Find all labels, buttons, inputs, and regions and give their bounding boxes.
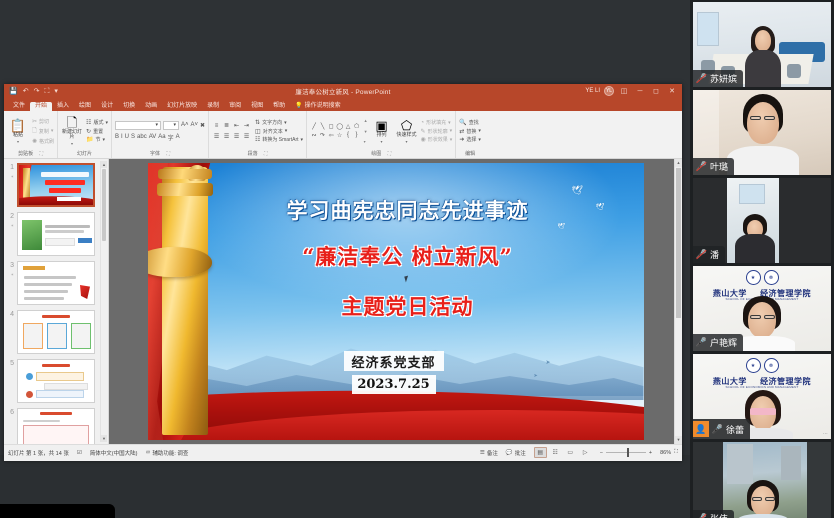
editing-group-label: 编辑 bbox=[459, 150, 481, 158]
thumbnail-number-label: 1 bbox=[10, 164, 14, 171]
zoom-slider[interactable] bbox=[606, 452, 646, 453]
thumbnail-item[interactable]: 1 ✶ bbox=[4, 163, 108, 207]
arrange-label: 排列 bbox=[377, 133, 387, 138]
more-shapes-icon[interactable]: ▾ bbox=[364, 139, 368, 144]
view-buttons: ▤ ☷ ▭ ▷ bbox=[534, 447, 592, 458]
align-text-button[interactable]: ◫ 对齐文本 ▾ bbox=[255, 128, 303, 135]
align-right-icon[interactable]: ☰ bbox=[232, 133, 241, 141]
university-name-english: SCHOOL OF ECONOMICS AND MANAGEMENT bbox=[693, 385, 831, 389]
new-slide-button[interactable]: 🗋 新建幻灯片 ▾ bbox=[61, 116, 83, 146]
title-bar-right: YE LI YL ◫ ─ ◻ ✕ bbox=[585, 86, 682, 96]
find-label: 查找 bbox=[469, 119, 479, 126]
minimize-icon[interactable]: ─ bbox=[634, 88, 646, 95]
zoom-slider-handle[interactable] bbox=[627, 448, 629, 457]
text-direction-label: 文字方向 bbox=[262, 119, 282, 126]
select-cursor-icon: ➜ bbox=[459, 136, 464, 143]
microphone-muted-icon: 🎤 bbox=[696, 161, 707, 172]
university-seal-icon: ★ bbox=[746, 358, 761, 373]
avatar[interactable]: YL bbox=[604, 86, 614, 96]
font-group-title: 字体 bbox=[150, 151, 160, 157]
clear-all-formatting-button[interactable]: 字 bbox=[168, 133, 174, 142]
scroll-down-icon[interactable]: ▼ bbox=[675, 436, 682, 444]
chevron-down-icon: ▾ bbox=[478, 128, 481, 134]
text-direction-button[interactable]: ⇅ 文字方向 ▾ bbox=[255, 119, 303, 126]
slide-organization[interactable]: 经济系党支部 bbox=[344, 351, 444, 371]
slide-golden-pillar bbox=[162, 167, 208, 435]
ribbon-tabs: 文件 开始 插入 绘图 设计 切换 动画 幻灯片放映 录制 审阅 视图 帮助 💡… bbox=[4, 98, 682, 111]
cut-label: 剪切 bbox=[39, 118, 49, 125]
curve-shape-icon[interactable]: ∾ bbox=[310, 131, 318, 139]
participant-name-bar: 👤 🎤 徐蕾 bbox=[693, 419, 750, 439]
select-button[interactable]: ➜ 选择 ▾ bbox=[459, 136, 481, 143]
thumbnail-number-label: 4 bbox=[10, 311, 14, 318]
host-badge-icon: 👤 bbox=[693, 421, 709, 437]
tab-insert[interactable]: 插入 bbox=[52, 102, 74, 112]
scroll-thumb[interactable] bbox=[102, 169, 106, 241]
ribbon-group-editing: 🔍 查找 ⇄ 替换 ▾ ➜ 选择 ▾ bbox=[456, 111, 484, 158]
slides-group-title: 幻灯片 bbox=[77, 151, 92, 157]
chevron-down-icon: ▾ bbox=[448, 120, 451, 126]
chevron-down-icon: ▾ bbox=[17, 139, 19, 144]
drawing-group-title: 绘图 bbox=[371, 151, 381, 157]
accessibility-status[interactable]: ♾ 辅助功能: 调查 bbox=[145, 449, 188, 457]
text-direction-icon: ⇅ bbox=[255, 119, 260, 126]
participant-name: 徐蕾 bbox=[726, 423, 744, 436]
justify-icon[interactable]: ☰ bbox=[242, 133, 251, 141]
thumbnail-item[interactable]: 2 ✶ bbox=[4, 212, 108, 256]
arrow-shape-icon[interactable]: ╲ bbox=[319, 123, 327, 131]
thumbnail-2[interactable] bbox=[17, 212, 95, 256]
slide-date[interactable]: 2023.7.25 bbox=[352, 375, 436, 394]
scroll-up-icon[interactable]: ▲ bbox=[101, 161, 107, 168]
participant-name: 户艳辉 bbox=[710, 336, 737, 349]
thumbnail-4[interactable] bbox=[17, 310, 95, 354]
tab-record[interactable]: 录制 bbox=[202, 102, 224, 112]
shape-fill-button[interactable]: ◔ 形状填充 ▾ bbox=[421, 119, 453, 126]
chevron-down-icon: ▾ bbox=[71, 141, 73, 146]
effects-icon: ◉ bbox=[421, 136, 426, 143]
tab-transitions[interactable]: 切换 bbox=[118, 102, 140, 112]
shape-effects-button[interactable]: ◉ 形状效果 ▾ bbox=[421, 136, 453, 143]
shapes-gallery-scroll[interactable]: ▲ ▼ ▾ bbox=[364, 118, 368, 144]
thumbnail-6[interactable] bbox=[17, 408, 95, 444]
tab-design[interactable]: 设计 bbox=[96, 102, 118, 112]
animation-star-icon: ✶ bbox=[6, 172, 14, 181]
university-logo: ★ ☸ bbox=[693, 358, 831, 373]
lightbulb-icon: 💡 bbox=[295, 103, 302, 109]
layout-button[interactable]: ☷ 版式 ▾ bbox=[86, 119, 108, 126]
search-icon: 🔍 bbox=[459, 119, 466, 126]
paragraph-group-title: 段落 bbox=[248, 151, 258, 157]
tab-slideshow[interactable]: 幻灯片放映 bbox=[162, 102, 202, 112]
title-bar: 💾 ↶ ↷ ⛶ ▾ 廉洁奉公树立新风 - PowerPoint YE LI YL… bbox=[4, 84, 682, 98]
slides-group-label: 幻灯片 bbox=[61, 150, 108, 158]
chevron-down-icon: ▾ bbox=[478, 137, 481, 143]
start-presentation-icon[interactable]: ⛶ bbox=[44, 88, 49, 95]
reset-label: 重置 bbox=[93, 128, 103, 135]
thumbnail-5[interactable] bbox=[17, 359, 95, 403]
thumbnail-item[interactable]: 3 ✶ bbox=[4, 261, 108, 305]
chevron-up-icon[interactable]: ▲ bbox=[364, 118, 368, 123]
animation-star-icon: ✶ bbox=[6, 221, 14, 230]
reset-button[interactable]: ↻ 重置 bbox=[86, 128, 108, 135]
microphone-muted-icon: 🎤 bbox=[696, 513, 707, 518]
zoom-out-button[interactable]: − bbox=[600, 450, 603, 456]
thumbnail-item[interactable]: 4 bbox=[4, 310, 108, 354]
copy-icon: 🗋 bbox=[32, 126, 37, 136]
replace-button[interactable]: ⇄ 替换 ▾ bbox=[459, 128, 481, 135]
restore-icon[interactable]: ◻ bbox=[650, 87, 662, 95]
zoom-control[interactable]: − + 86% ⛶ bbox=[600, 449, 678, 456]
layout-label: 版式 bbox=[93, 119, 103, 126]
ribbon-group-slides: 🗋 新建幻灯片 ▾ ☷ 版式 ▾ ↻ 重置 bbox=[58, 111, 112, 158]
chevron-down-icon: ▾ bbox=[406, 139, 408, 144]
university-seal-icon: ★ bbox=[746, 270, 761, 285]
brace-right-icon[interactable]: } bbox=[353, 131, 361, 139]
redo-icon[interactable]: ↷ bbox=[34, 88, 40, 95]
thumbnail-1[interactable] bbox=[17, 163, 95, 207]
clipboard-group-title: 剪贴板 bbox=[18, 151, 33, 157]
quick-styles-icon: ⬠ bbox=[401, 119, 412, 132]
copy-button[interactable]: 🗋 复制 ▾ bbox=[32, 126, 54, 136]
slide-editing-pane[interactable]: 🕊 🕊 🕊 ➤ ➤ 学习曲宪忠同志先进事迹 “廉洁奉公 树立新风” 主题党日活动… bbox=[109, 159, 682, 444]
participant-name: 叶璐 bbox=[710, 160, 728, 173]
language-label[interactable]: 简体中文(中国大陆) bbox=[90, 449, 138, 457]
dialog-launcher-icon[interactable]: ⛶ bbox=[39, 151, 43, 157]
arrange-button[interactable]: ▣ 排列 ▾ bbox=[371, 119, 393, 144]
increase-indent-icon[interactable]: ⇥ bbox=[242, 122, 251, 130]
grow-font-button[interactable]: A˄ bbox=[181, 122, 189, 128]
slide-subtitle[interactable]: “廉洁奉公 树立新风” bbox=[243, 241, 573, 271]
smartart-icon: ☷ bbox=[255, 136, 260, 143]
align-left-icon[interactable]: ☰ bbox=[212, 133, 221, 141]
chevron-down-icon: ▾ bbox=[155, 122, 158, 128]
clipboard-icon: 📋 bbox=[10, 119, 26, 132]
select-label: 选择 bbox=[466, 136, 476, 143]
chevron-down-icon: ▾ bbox=[450, 128, 453, 134]
section-button[interactable]: 📁 节 ▾ bbox=[86, 136, 108, 143]
participant-tile[interactable]: ★ ☸ 燕山大学 经济管理学院 SCHOOL OF ECONOMICS AND … bbox=[693, 266, 831, 351]
replace-icon: ⇄ bbox=[459, 128, 464, 135]
participant-tile-active-speaker[interactable]: ★ ☸ 燕山大学 经济管理学院 SCHOOL OF ECONOMICS AND … bbox=[693, 354, 831, 439]
screen-root: 💾 ↶ ↷ ⛶ ▾ 廉洁奉公树立新风 - PowerPoint YE LI YL… bbox=[0, 0, 834, 518]
comments-label: 批注 bbox=[515, 449, 526, 457]
underline-button[interactable]: U bbox=[125, 134, 129, 140]
new-slide-icon: 🗋 bbox=[67, 116, 77, 129]
convert-smartart-button[interactable]: ☷ 转换为 SmartArt ▾ bbox=[255, 136, 303, 143]
meeting-taskbar-strip bbox=[0, 504, 115, 518]
participant-name-bar: 🎤 叶璐 bbox=[693, 158, 734, 175]
dove-icon: 🕊 bbox=[596, 203, 605, 211]
character-spacing-button[interactable]: AV bbox=[149, 134, 157, 140]
fit-slide-to-window-button[interactable]: ⛶ bbox=[674, 449, 678, 456]
dove-icon: 🕊 bbox=[572, 185, 583, 196]
align-center-icon[interactable]: ☰ bbox=[222, 133, 231, 141]
ribbon-group-clipboard: 📋 粘贴 ▾ ✂ 剪切 🗋 复制 ▾ bbox=[4, 111, 58, 158]
pentagon-shape-icon[interactable]: ⬠ bbox=[353, 123, 361, 131]
align-text-label: 对齐文本 bbox=[263, 128, 283, 135]
pillar-ornament bbox=[188, 165, 206, 181]
microphone-muted-icon: 🎤 bbox=[696, 249, 707, 260]
thumbnail-item[interactable]: 5 bbox=[4, 359, 108, 403]
bullets-icon[interactable]: ≡ bbox=[212, 122, 221, 130]
thumbnail-number: 6 bbox=[6, 408, 17, 417]
chevron-down-icon: ▾ bbox=[285, 128, 288, 134]
format-painter-label: 格式刷 bbox=[39, 138, 54, 145]
microphone-icon: 🎤 bbox=[712, 424, 723, 435]
participant-name: 苏妍嫔 bbox=[710, 72, 737, 85]
bird-icon: ➤ bbox=[534, 373, 538, 379]
thumbnail-number: 3 ✶ bbox=[6, 261, 17, 279]
connector-shape-icon[interactable]: ↷ bbox=[319, 131, 327, 139]
scroll-up-icon[interactable]: ▲ bbox=[675, 159, 682, 167]
window-title: 廉洁奉公树立新风 - PowerPoint bbox=[4, 86, 682, 96]
video-corner-dots: ⋯ bbox=[823, 431, 829, 437]
university-logo: ★ ☸ bbox=[693, 270, 831, 285]
replace-label: 替换 bbox=[466, 128, 476, 135]
notes-button[interactable]: ☰ 备注 bbox=[480, 449, 498, 457]
chevron-down-icon: ▾ bbox=[284, 120, 287, 126]
format-painter-button[interactable]: ✺ 格式刷 bbox=[32, 138, 54, 145]
dialog-launcher-icon[interactable]: ⛶ bbox=[166, 151, 170, 157]
save-icon[interactable]: 💾 bbox=[9, 88, 18, 95]
notes-label: 备注 bbox=[487, 449, 498, 457]
slide-subtitle-2[interactable]: 主题党日活动 bbox=[243, 291, 573, 321]
drawing-group-label: 绘图 ⛶ bbox=[310, 150, 452, 158]
ribbon-group-drawing: ╱ ╲ ◻ ◯ △ ⬠ ∾ ↷ ⇦ ☆ { } ▲ bbox=[307, 111, 456, 158]
thumbnail-number: 5 bbox=[6, 359, 17, 368]
participant-video bbox=[693, 442, 831, 518]
tell-me-label: 操作说明搜索 bbox=[305, 103, 341, 109]
college-seal-icon: ☸ bbox=[764, 358, 779, 373]
tab-view[interactable]: 视图 bbox=[246, 102, 268, 112]
customize-qat-icon[interactable]: ▾ bbox=[54, 88, 58, 95]
normal-view-button[interactable]: ▤ bbox=[534, 447, 547, 458]
shape-outline-label: 形状轮廓 bbox=[428, 128, 448, 135]
shrink-font-button[interactable]: A˅ bbox=[190, 122, 198, 128]
status-bar: 幻灯片 第 1 张，共 14 张 ☑ 简体中文(中国大陆) ♾ 辅助功能: 调查… bbox=[4, 444, 682, 460]
participant-name-bar: 🎤 张伟 bbox=[693, 510, 734, 518]
bold-button[interactable]: B bbox=[115, 134, 119, 140]
clear-formatting-icon[interactable]: ✖ bbox=[200, 122, 205, 129]
triangle-shape-icon[interactable]: △ bbox=[344, 123, 352, 131]
powerpoint-window: 💾 ↶ ↷ ⛶ ▾ 廉洁奉公树立新风 - PowerPoint YE LI YL… bbox=[4, 84, 682, 461]
pillar-cloud-band bbox=[148, 247, 212, 277]
ribbon-group-paragraph: ≡ ≣ ⇤ ⇥ ☰ ☰ ☰ ☰ bbox=[209, 111, 307, 158]
participant-name: 潘 bbox=[710, 248, 719, 261]
tell-me-search[interactable]: 💡 操作说明搜索 bbox=[290, 102, 346, 112]
thumbnail-3[interactable] bbox=[17, 261, 95, 305]
thumbnail-number: 2 ✶ bbox=[6, 212, 17, 230]
convert-smartart-label: 转换为 SmartArt bbox=[262, 136, 298, 143]
zoom-percent-label[interactable]: 86% bbox=[655, 450, 671, 456]
tab-draw[interactable]: 绘图 bbox=[74, 102, 96, 112]
college-seal-icon: ☸ bbox=[764, 270, 779, 285]
rectangle-shape-icon[interactable]: ◻ bbox=[327, 123, 335, 131]
paragraph-group-label: 段落 ⛶ bbox=[212, 150, 303, 158]
dialog-launcher-icon[interactable]: ⛶ bbox=[388, 151, 392, 157]
scissors-icon: ✂ bbox=[32, 118, 37, 125]
tab-review[interactable]: 审阅 bbox=[224, 102, 246, 112]
reading-view-button[interactable]: ▭ bbox=[564, 447, 577, 458]
shape-outline-button[interactable]: ✎ 形状轮廓 ▾ bbox=[421, 128, 453, 135]
editing-group-title: 编辑 bbox=[465, 151, 475, 157]
decrease-indent-icon[interactable]: ⇤ bbox=[232, 122, 241, 130]
participant-name: 张伟 bbox=[710, 512, 728, 518]
brace-left-icon[interactable]: { bbox=[344, 131, 352, 139]
thumbnail-number: 1 ✶ bbox=[6, 163, 17, 181]
find-button[interactable]: 🔍 查找 bbox=[459, 119, 481, 126]
numbering-icon[interactable]: ≣ bbox=[222, 122, 231, 130]
copy-label: 复制 bbox=[39, 128, 49, 135]
microphone-muted-icon: 🎤 bbox=[696, 73, 707, 84]
section-label: 节 bbox=[96, 136, 101, 143]
thumbnail-scrollbar[interactable]: ▲ ▼ bbox=[100, 161, 107, 442]
chevron-down-icon: ▾ bbox=[51, 128, 54, 134]
quick-styles-button[interactable]: ⬠ 快速样式 ▾ bbox=[396, 119, 418, 144]
participant-name-bar: 🎤 苏妍嫔 bbox=[693, 70, 743, 87]
thumbnail-number-label: 5 bbox=[10, 360, 14, 367]
chevron-down-icon: ▾ bbox=[381, 139, 383, 144]
clipboard-group-label: 剪贴板 ⛶ bbox=[7, 150, 54, 158]
thumbnail-item[interactable]: 6 bbox=[4, 408, 108, 444]
ribbon: 📋 粘贴 ▾ ✂ 剪切 🗋 复制 ▾ bbox=[4, 111, 682, 159]
font-name-combo[interactable]: ▾ bbox=[115, 121, 161, 130]
chevron-down-icon[interactable]: ▼ bbox=[364, 129, 368, 134]
layout-icon: ☷ bbox=[86, 119, 91, 126]
comments-button[interactable]: 💬 批注 bbox=[506, 449, 526, 457]
comment-bubble-icon: 💬 bbox=[506, 450, 513, 456]
dialog-launcher-icon[interactable]: ⛶ bbox=[264, 151, 268, 157]
participant-tile[interactable]: 🎤 苏妍嫔 bbox=[693, 2, 831, 87]
shape-effects-label: 形状效果 bbox=[428, 136, 448, 143]
slide-thumbnail-pane[interactable]: 1 ✶ 2 ✶ bbox=[4, 159, 109, 444]
close-icon[interactable]: ✕ bbox=[666, 87, 678, 95]
slide-scrollbar[interactable]: ▲ ▼ bbox=[674, 159, 682, 444]
cut-button[interactable]: ✂ 剪切 bbox=[32, 118, 54, 125]
chevron-down-icon: ▾ bbox=[301, 137, 304, 143]
slide-sorter-view-button[interactable]: ☷ bbox=[549, 447, 562, 458]
paintbrush-icon: ✺ bbox=[32, 138, 37, 145]
section-icon: 📁 bbox=[86, 136, 93, 143]
paste-button[interactable]: 📋 粘贴 ▾ bbox=[7, 119, 29, 144]
work-area: 1 ✶ 2 ✶ bbox=[4, 159, 682, 444]
slide-show-button[interactable]: ▷ bbox=[579, 447, 592, 458]
microphone-icon: 🎤 bbox=[696, 337, 707, 348]
participant-tile[interactable]: 🎤 叶璐 bbox=[693, 90, 831, 175]
shape-fill-label: 形状填充 bbox=[426, 119, 446, 126]
fill-bucket-icon: ◔ bbox=[421, 120, 425, 126]
thumbnail-number-label: 6 bbox=[10, 409, 14, 416]
outline-pen-icon: ✎ bbox=[421, 128, 426, 135]
quick-styles-label: 快速样式 bbox=[397, 133, 417, 138]
shapes-gallery[interactable]: ╱ ╲ ◻ ◯ △ ⬠ ∾ ↷ ⇦ ☆ { } bbox=[310, 123, 361, 140]
ribbon-group-font: ▾ ▾ A˄ A˅ ✖ B I U S bbox=[112, 111, 209, 158]
spell-check-icon[interactable]: ☑ bbox=[77, 450, 82, 456]
thumbnail-number: 4 bbox=[6, 310, 17, 319]
paste-label: 粘贴 bbox=[13, 133, 23, 138]
chevron-down-icon: ▾ bbox=[105, 120, 108, 126]
participant-tile[interactable]: 🎤 张伟 bbox=[693, 442, 831, 518]
current-slide[interactable]: 🕊 🕊 🕊 ➤ ➤ 学习曲宪忠同志先进事迹 “廉洁奉公 树立新风” 主题党日活动… bbox=[148, 163, 644, 440]
notes-icon: ☰ bbox=[480, 450, 485, 456]
account-name[interactable]: YE LI bbox=[585, 88, 600, 94]
meeting-bottom-bar bbox=[0, 455, 690, 518]
chevron-down-icon: ▾ bbox=[173, 122, 176, 128]
arrange-icon: ▣ bbox=[375, 119, 387, 132]
thumbnail-number-label: 2 bbox=[10, 213, 14, 220]
participant-name-bar: 🎤 户艳辉 bbox=[693, 334, 743, 351]
bird-icon: ➤ bbox=[546, 359, 551, 366]
tab-home[interactable]: 开始 bbox=[30, 102, 52, 112]
font-color-button[interactable]: A bbox=[176, 134, 180, 140]
new-slide-label: 新建幻灯片 bbox=[61, 130, 83, 140]
participant-name-bar: 🎤 潘 bbox=[693, 246, 725, 263]
text-shadow-button[interactable]: S bbox=[131, 134, 135, 140]
undo-icon[interactable]: ↶ bbox=[23, 88, 29, 95]
participant-video-strip: 🎤 苏妍嫔 🎤 叶璐 bbox=[690, 0, 834, 518]
quick-access-toolbar: 💾 ↶ ↷ ⛶ ▾ bbox=[4, 88, 58, 95]
star-shape-icon[interactable]: ☆ bbox=[336, 131, 344, 139]
participant-tile[interactable]: 🎤 潘 bbox=[693, 178, 831, 263]
chevron-down-icon: ▾ bbox=[103, 137, 106, 143]
strikethrough-button[interactable]: abc bbox=[137, 134, 147, 140]
line-shape-icon[interactable]: ╱ bbox=[310, 123, 318, 131]
thumbnail-number-label: 3 bbox=[10, 262, 14, 269]
accessibility-icon: ♾ bbox=[145, 450, 150, 456]
reset-icon: ↻ bbox=[86, 128, 91, 135]
zoom-in-button[interactable]: + bbox=[649, 450, 652, 456]
tab-animations[interactable]: 动画 bbox=[140, 102, 162, 112]
scroll-down-icon[interactable]: ▼ bbox=[101, 435, 107, 442]
slide-title[interactable]: 学习曲宪忠同志先进事迹 bbox=[243, 195, 573, 225]
tab-file[interactable]: 文件 bbox=[8, 102, 30, 112]
font-group-label: 字体 ⛶ bbox=[115, 150, 205, 158]
block-arrow-icon[interactable]: ⇦ bbox=[327, 131, 335, 139]
change-case-button[interactable]: Aa bbox=[158, 134, 165, 140]
chevron-down-icon: ▾ bbox=[450, 137, 453, 143]
animation-star-icon: ✶ bbox=[6, 270, 14, 279]
italic-button[interactable]: I bbox=[121, 134, 123, 140]
slide-count-label: 幻灯片 第 1 张，共 14 张 bbox=[8, 449, 69, 457]
ribbon-display-options-icon[interactable]: ◫ bbox=[618, 87, 630, 95]
oval-shape-icon[interactable]: ◯ bbox=[336, 123, 344, 131]
align-text-icon: ◫ bbox=[255, 128, 261, 135]
tab-help[interactable]: 帮助 bbox=[268, 102, 290, 112]
scroll-thumb[interactable] bbox=[676, 168, 681, 318]
font-size-combo[interactable]: ▾ bbox=[163, 121, 179, 130]
accessibility-label: 辅助功能: 调查 bbox=[152, 449, 188, 457]
